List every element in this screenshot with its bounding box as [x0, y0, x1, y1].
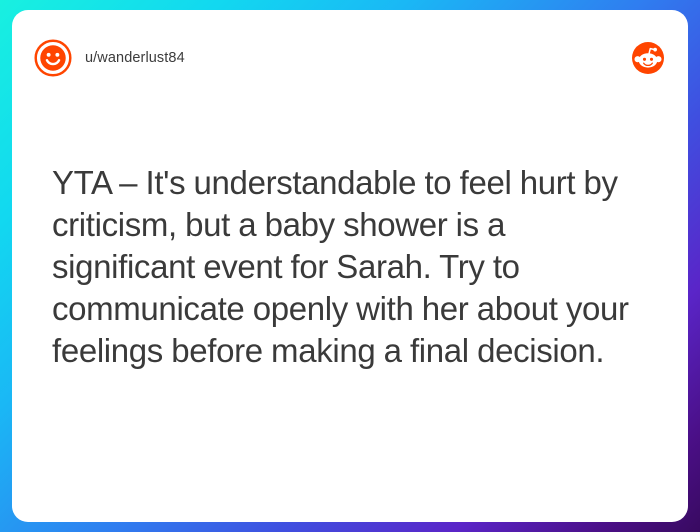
reddit-comment-card: u/wanderlust84 YTA – It's understa [12, 10, 688, 522]
smiley-face-icon [34, 39, 72, 77]
reddit-snoo-icon[interactable] [632, 42, 664, 74]
username-label: u/wanderlust84 [85, 50, 185, 66]
screenshot-stage: u/wanderlust84 YTA – It's understa [0, 0, 700, 532]
user-identity-block[interactable]: u/wanderlust84 [34, 39, 185, 77]
card-header: u/wanderlust84 [12, 10, 688, 106]
card-body: YTA – It's understandable to feel hurt b… [52, 162, 644, 372]
comment-text: YTA – It's understandable to feel hurt b… [52, 162, 644, 372]
